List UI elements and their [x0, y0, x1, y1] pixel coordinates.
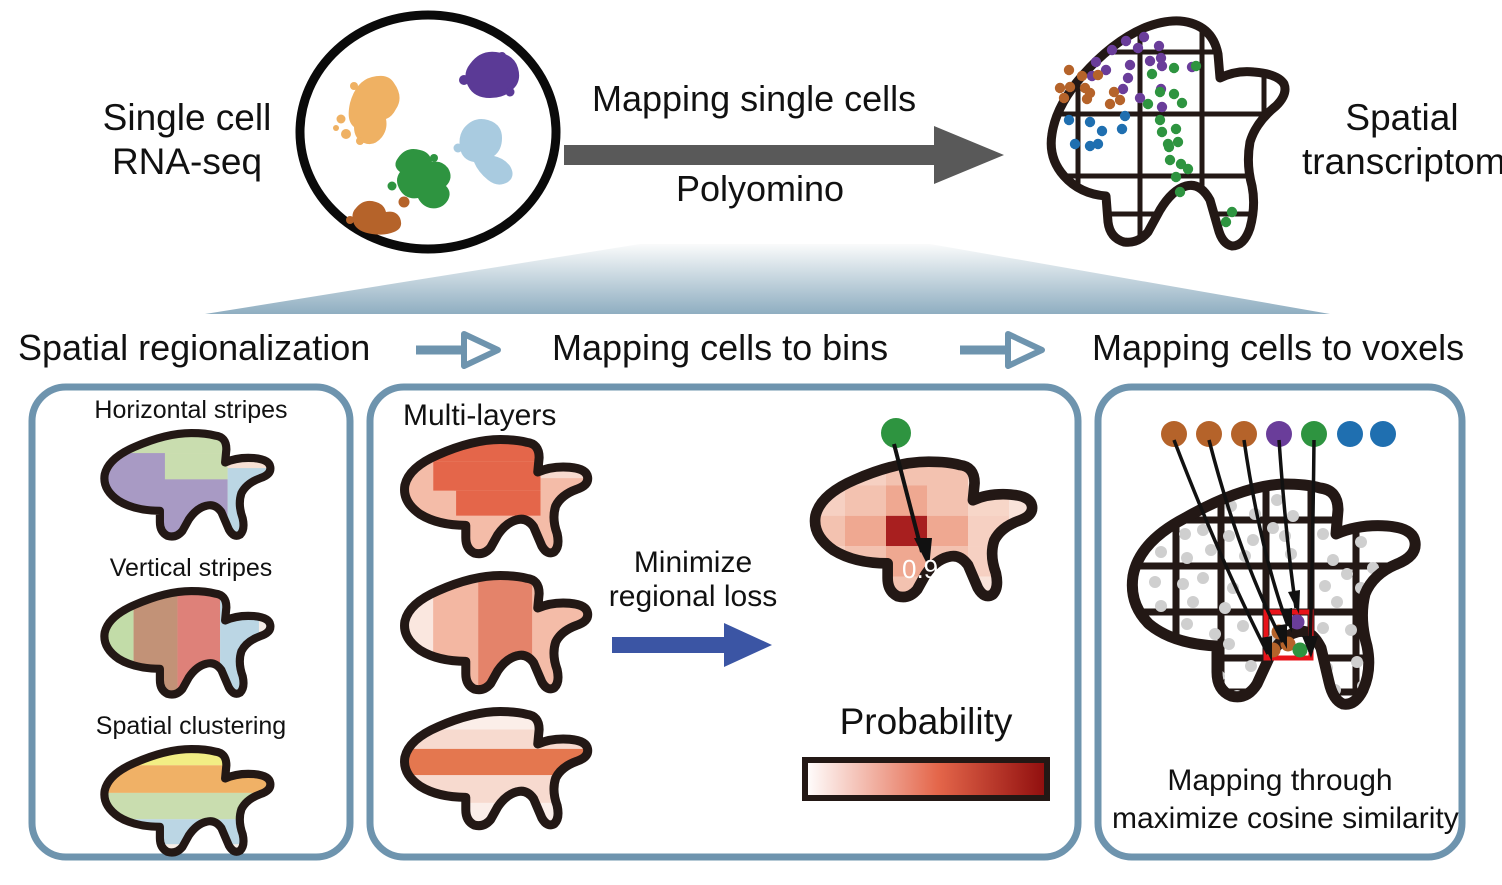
scrna-label-line1: Single cell [92, 96, 282, 140]
mapping-lines [1160, 430, 1410, 700]
spatial-label-line1: Spatial [1302, 96, 1502, 140]
left-item-label-2: Vertical stripes [41, 554, 341, 583]
scrna-label: Single cell RNA-seq [92, 96, 282, 183]
step-arrow-1-icon [414, 330, 504, 370]
umap-circle [288, 8, 568, 256]
fish-horizontal-stripes [95, 428, 285, 544]
mapping-arrow-top-label: Mapping single cells [592, 78, 916, 120]
fish-layer-1 [394, 434, 604, 562]
fish-vertical-stripes [95, 586, 285, 702]
figure-root: Single cell RNA-seq Mapping single [0, 0, 1502, 885]
spatial-tissue-top [1040, 14, 1320, 256]
minimize-loss-arrow-icon [612, 621, 772, 669]
left-item-label-1: Horizontal stripes [41, 396, 341, 425]
step-arrow-2-icon [958, 330, 1048, 370]
right-caption-line1: Mapping through [1112, 762, 1448, 800]
spatial-transcriptome-label: Spatial transcriptome [1302, 96, 1502, 183]
left-item-label-3: Spatial clustering [41, 712, 341, 741]
minimize-loss-line1: Minimize [578, 546, 808, 580]
gradient-connector [130, 244, 1380, 316]
fish-spatial-clustering [95, 744, 285, 860]
fish-layer-3 [394, 706, 604, 834]
right-caption-line2: maximize cosine similarity [1112, 800, 1448, 838]
probability-colorbar [802, 757, 1050, 801]
step-label-1: Spatial regionalization [18, 327, 370, 369]
minimize-loss-label: Minimize regional loss [578, 546, 808, 614]
big-mapping-arrow [564, 126, 1004, 184]
fish-layer-2 [394, 570, 604, 698]
step-label-2: Mapping cells to bins [552, 327, 888, 369]
step-label-3: Mapping cells to voxels [1092, 327, 1464, 369]
scrna-label-line2: RNA-seq [92, 140, 282, 184]
multi-layers-label: Multi-layers [403, 399, 556, 433]
spatial-label-line2: transcriptome [1302, 140, 1502, 184]
probability-value: 0.9 [902, 554, 938, 585]
probability-title: Probability [796, 700, 1056, 744]
right-panel-caption: Mapping through maximize cosine similari… [1112, 762, 1448, 837]
minimize-loss-line2: regional loss [578, 580, 808, 614]
